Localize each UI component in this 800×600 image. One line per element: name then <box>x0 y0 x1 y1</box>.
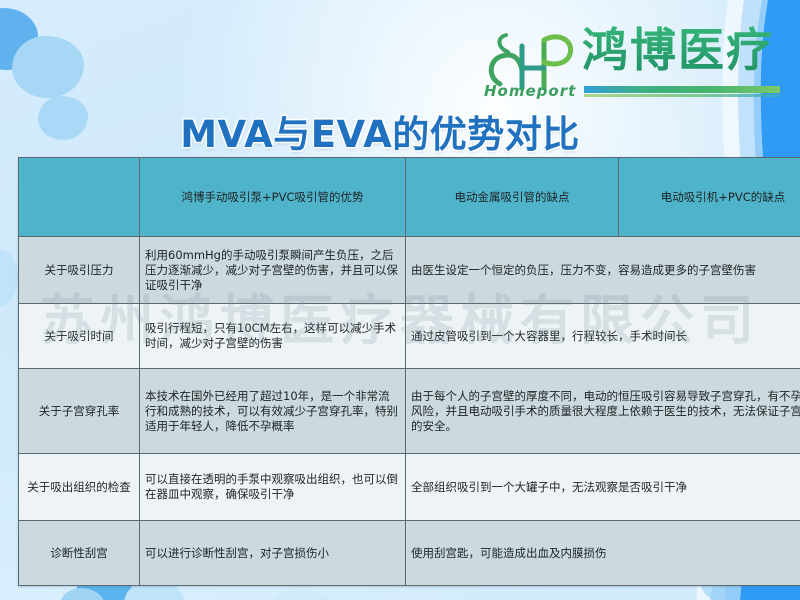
company-logo: 鸿博医疗 Homeport <box>478 22 790 106</box>
table-row: 关于吸引时间 吸引行程短，只有10CM左右，这样可以减少手术时间，减少对子宫壁的… <box>19 304 800 369</box>
table-row: 关于吸引压力 利用60mmHg的手动吸引泵瞬间产生负压，之后压力逐渐减少，减少对… <box>19 237 800 304</box>
row-category-label: 诊断性刮宫 <box>19 521 140 586</box>
row-advantage-text: 可以直接在透明的手泵中观察吸出组织，也可以倒在器皿中观察，确保吸引干净 <box>140 454 406 521</box>
column-header-metal-tube-disadvantage: 电动金属吸引管的缺点 <box>406 158 619 237</box>
table-body: 关于吸引压力 利用60mmHg的手动吸引泵瞬间产生负压，之后压力逐渐减少，减少对… <box>19 237 800 586</box>
table-row: 关于子宫穿孔率 本技术在国外已经用了超过10年，是一个非常流行和成熟的技术，可以… <box>19 369 800 454</box>
column-header-advantage: 鸿博手动吸引泵+PVC吸引管的优势 <box>140 158 406 237</box>
row-disadvantage-text: 使用刮宫匙，可能造成出血及内膜损伤 <box>406 521 800 586</box>
table-row: 诊断性刮宫 可以进行诊断性刮宫，对子宫损伤小 使用刮宫匙，可能造成出血及内膜损伤 <box>19 521 800 586</box>
column-header-electric-pvc-disadvantage: 电动吸引机+PVC的缺点 <box>619 158 800 237</box>
table-row: 关于吸出组织的检查 可以直接在透明的手泵中观察吸出组织，也可以倒在器皿中观察，确… <box>19 454 800 521</box>
row-disadvantage-text: 由医生设定一个恒定的负压，压力不变，容易造成更多的子宫壁伤害 <box>406 237 800 304</box>
logo-accent-bar-secondary <box>584 94 780 97</box>
logo-brand-cn: 鸿博医疗 <box>582 20 774 80</box>
page-title: MVA与EVA的优势对比 <box>0 104 760 158</box>
row-advantage-text: 利用60mmHg的手动吸引泵瞬间产生负压，之后压力逐渐减少，减少对子宫壁的伤害，… <box>140 237 406 304</box>
decorative-blob <box>0 8 38 70</box>
row-category-label: 关于吸引时间 <box>19 304 140 369</box>
row-category-label: 关于子宫穿孔率 <box>19 369 140 454</box>
row-advantage-text: 本技术在国外已经用了超过10年，是一个非常流行和成熟的技术，可以有效减少子宫穿孔… <box>140 369 406 454</box>
row-category-label: 关于吸出组织的检查 <box>19 454 140 521</box>
decorative-blob <box>0 250 18 306</box>
presentation-slide: 鸿博医疗 Homeport MVA与EVA的优势对比 苏州鸿博医疗器械有限公司 … <box>0 0 800 600</box>
row-disadvantage-text: 由于每个人的子宫壁的厚度不同，电动的恒压吸引容易导致子宫穿孔，有不孕的风险，并且… <box>406 369 800 454</box>
decorative-blob <box>270 590 336 600</box>
row-advantage-text: 吸引行程短，只有10CM左右，这样可以减少手术时间，减少对子宫壁的伤害 <box>140 304 406 369</box>
decorative-blob <box>60 588 104 600</box>
logo-accent-bar <box>584 86 780 93</box>
row-disadvantage-text: 通过皮管吸引到一个大容器里，行程较长，手术时间长 <box>406 304 800 369</box>
row-category-label: 关于吸引压力 <box>19 237 140 304</box>
table-header-row: 鸿博手动吸引泵+PVC吸引管的优势 电动金属吸引管的缺点 电动吸引机+PVC的缺… <box>19 158 800 237</box>
row-advantage-text: 可以进行诊断性刮宫，对子宫损伤小 <box>140 521 406 586</box>
logo-brand-en: Homeport <box>484 82 576 100</box>
row-disadvantage-text: 全部组织吸引到一个大罐子中，无法观察是否吸引干净 <box>406 454 800 521</box>
column-header-category <box>19 158 140 237</box>
decorative-blob <box>12 36 84 98</box>
table-header: 鸿博手动吸引泵+PVC吸引管的优势 电动金属吸引管的缺点 电动吸引机+PVC的缺… <box>19 158 800 237</box>
comparison-table: 鸿博手动吸引泵+PVC吸引管的优势 电动金属吸引管的缺点 电动吸引机+PVC的缺… <box>18 157 800 586</box>
